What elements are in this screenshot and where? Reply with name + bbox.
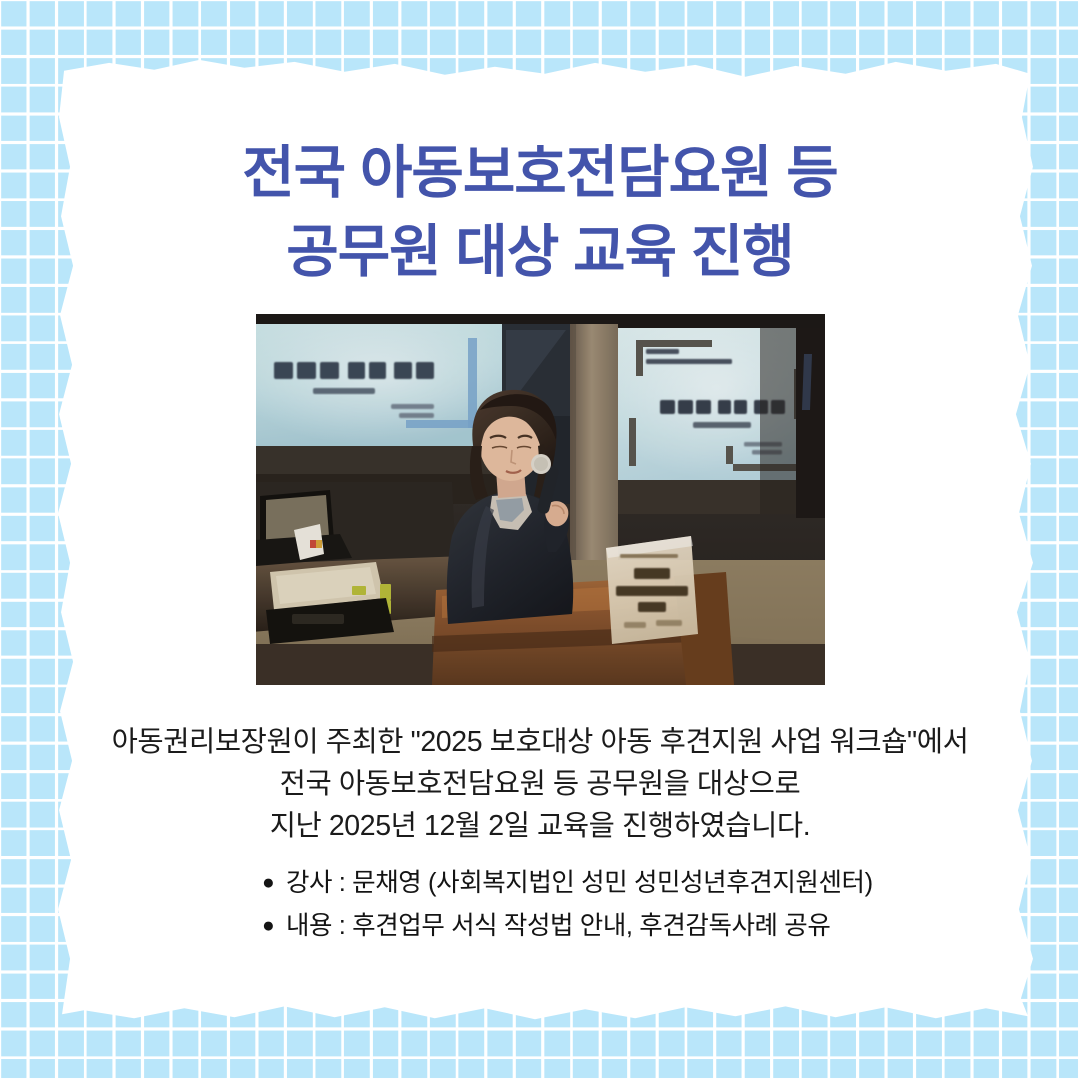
page-title: 전국 아동보호전담요원 등 공무원 대상 교육 진행 [0, 134, 1080, 291]
list-item-label: 내용 : 후견업무 서식 작성법 안내, 후견감독사례 공유 [286, 905, 882, 948]
caption-paragraph: 아동권리보장원이 주최한 "2025 보호대상 아동 후견지원 사업 워크숍"에… [0, 722, 1080, 848]
poster-card: 전국 아동보호전담요원 등 공무원 대상 교육 진행 [0, 0, 1080, 1080]
event-photo [256, 314, 825, 685]
list-item: ● 강사 : 문채영 (사회복지법인 성민 성민성년후견지원센터) [262, 862, 882, 905]
list-item: ● 내용 : 후견업무 서식 작성법 안내, 후견감독사례 공유 [262, 905, 882, 948]
list-item-label: 강사 : 문채영 (사회복지법인 성민 성민성년후견지원센터) [286, 862, 882, 905]
bullet-dot-icon: ● [262, 872, 286, 893]
bullet-dot-icon: ● [262, 915, 286, 936]
details-list: ● 강사 : 문채영 (사회복지법인 성민 성민성년후견지원센터) ● 내용 :… [262, 862, 882, 948]
event-photo-illustration [256, 314, 825, 685]
